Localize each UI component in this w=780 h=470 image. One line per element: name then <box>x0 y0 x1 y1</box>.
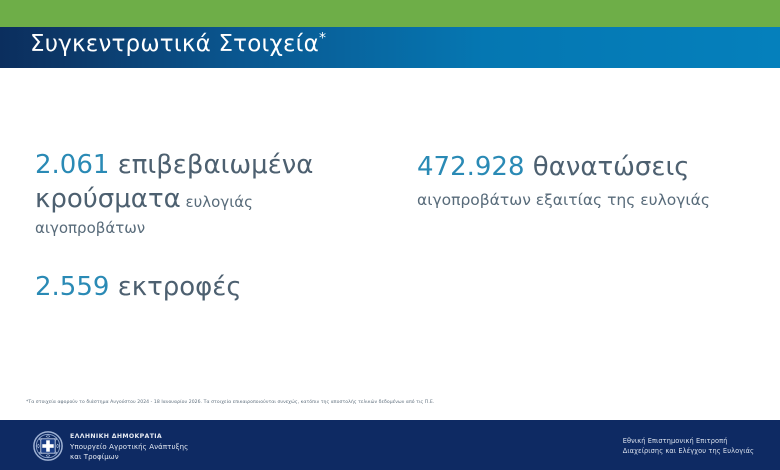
stats-column-left: 2.061 επιβεβαιωμένα κρούσματα ευλογιάς α… <box>35 148 395 304</box>
stat-culled-animals-label: θανατώσεις <box>525 152 690 182</box>
stat-farms-value: 2.559 <box>35 272 109 302</box>
footer-ministry-text: ΕΛΛΗΝΙΚΗ ΔΗΜΟΚΡΑΤΙΑ Υπουργείο Αγροτικής … <box>70 433 188 462</box>
infographic-page: Συγκεντρωτικά Στοιχεία* 2.061 επιβεβαιωμ… <box>0 0 780 470</box>
stat-confirmed-cases-label-block: αιγοπροβάτων <box>35 219 395 239</box>
stat-culled-animals-value: 472.928 <box>417 152 525 182</box>
stats-column-right: 472.928 θανατώσεις αιγοπροβάτων εξαιτίας… <box>417 150 762 210</box>
stat-confirmed-cases-label-inline: ευλογιάς <box>181 193 253 211</box>
footer-committee-line2: Διαχείρισης και Ελέγχου της Ευλογιάς <box>623 447 754 457</box>
stat-farms-headline: 2.559 εκτροφές <box>35 270 395 304</box>
stat-culled-animals-headline: 472.928 θανατώσεις <box>417 150 762 184</box>
main-content: 2.061 επιβεβαιωμένα κρούσματα ευλογιάς α… <box>0 68 780 398</box>
footer-committee-line1: Εθνική Επιστημονική Επιτροπή <box>623 437 754 447</box>
greek-republic-emblem-icon <box>33 431 63 461</box>
footer-committee-text: Εθνική Επιστημονική Επιτροπή Διαχείρισης… <box>623 437 754 457</box>
stat-culled-animals: 472.928 θανατώσεις αιγοπροβάτων εξαιτίας… <box>417 150 762 210</box>
header-green-band <box>0 0 780 27</box>
page-title: Συγκεντρωτικά Στοιχεία* <box>30 31 326 57</box>
stat-farms: 2.559 εκτροφές <box>35 270 395 304</box>
footer-ministry-line1: ΕΛΛΗΝΙΚΗ ΔΗΜΟΚΡΑΤΙΑ <box>70 433 188 442</box>
stat-farms-label: εκτροφές <box>109 272 241 302</box>
footer-ministry-line3: και Τροφίμων <box>70 452 188 462</box>
page-title-asterisk: * <box>319 30 326 46</box>
page-title-text: Συγκεντρωτικά Στοιχεία <box>30 31 319 57</box>
footnote: *Τα στοιχεία αφορούν το διάστημα Αυγούστ… <box>26 400 756 406</box>
stat-confirmed-cases: 2.061 επιβεβαιωμένα κρούσματα ευλογιάς α… <box>35 148 395 238</box>
stat-culled-animals-sublabel: αιγοπροβάτων εξαιτίας της ευλογιάς <box>417 190 762 210</box>
stat-confirmed-cases-value: 2.061 <box>35 150 109 180</box>
footer-ministry-line2: Υπουργείο Αγροτικής Ανάπτυξης <box>70 442 188 452</box>
stat-confirmed-cases-headline: 2.061 επιβεβαιωμένα κρούσματα ευλογιάς <box>35 148 395 217</box>
